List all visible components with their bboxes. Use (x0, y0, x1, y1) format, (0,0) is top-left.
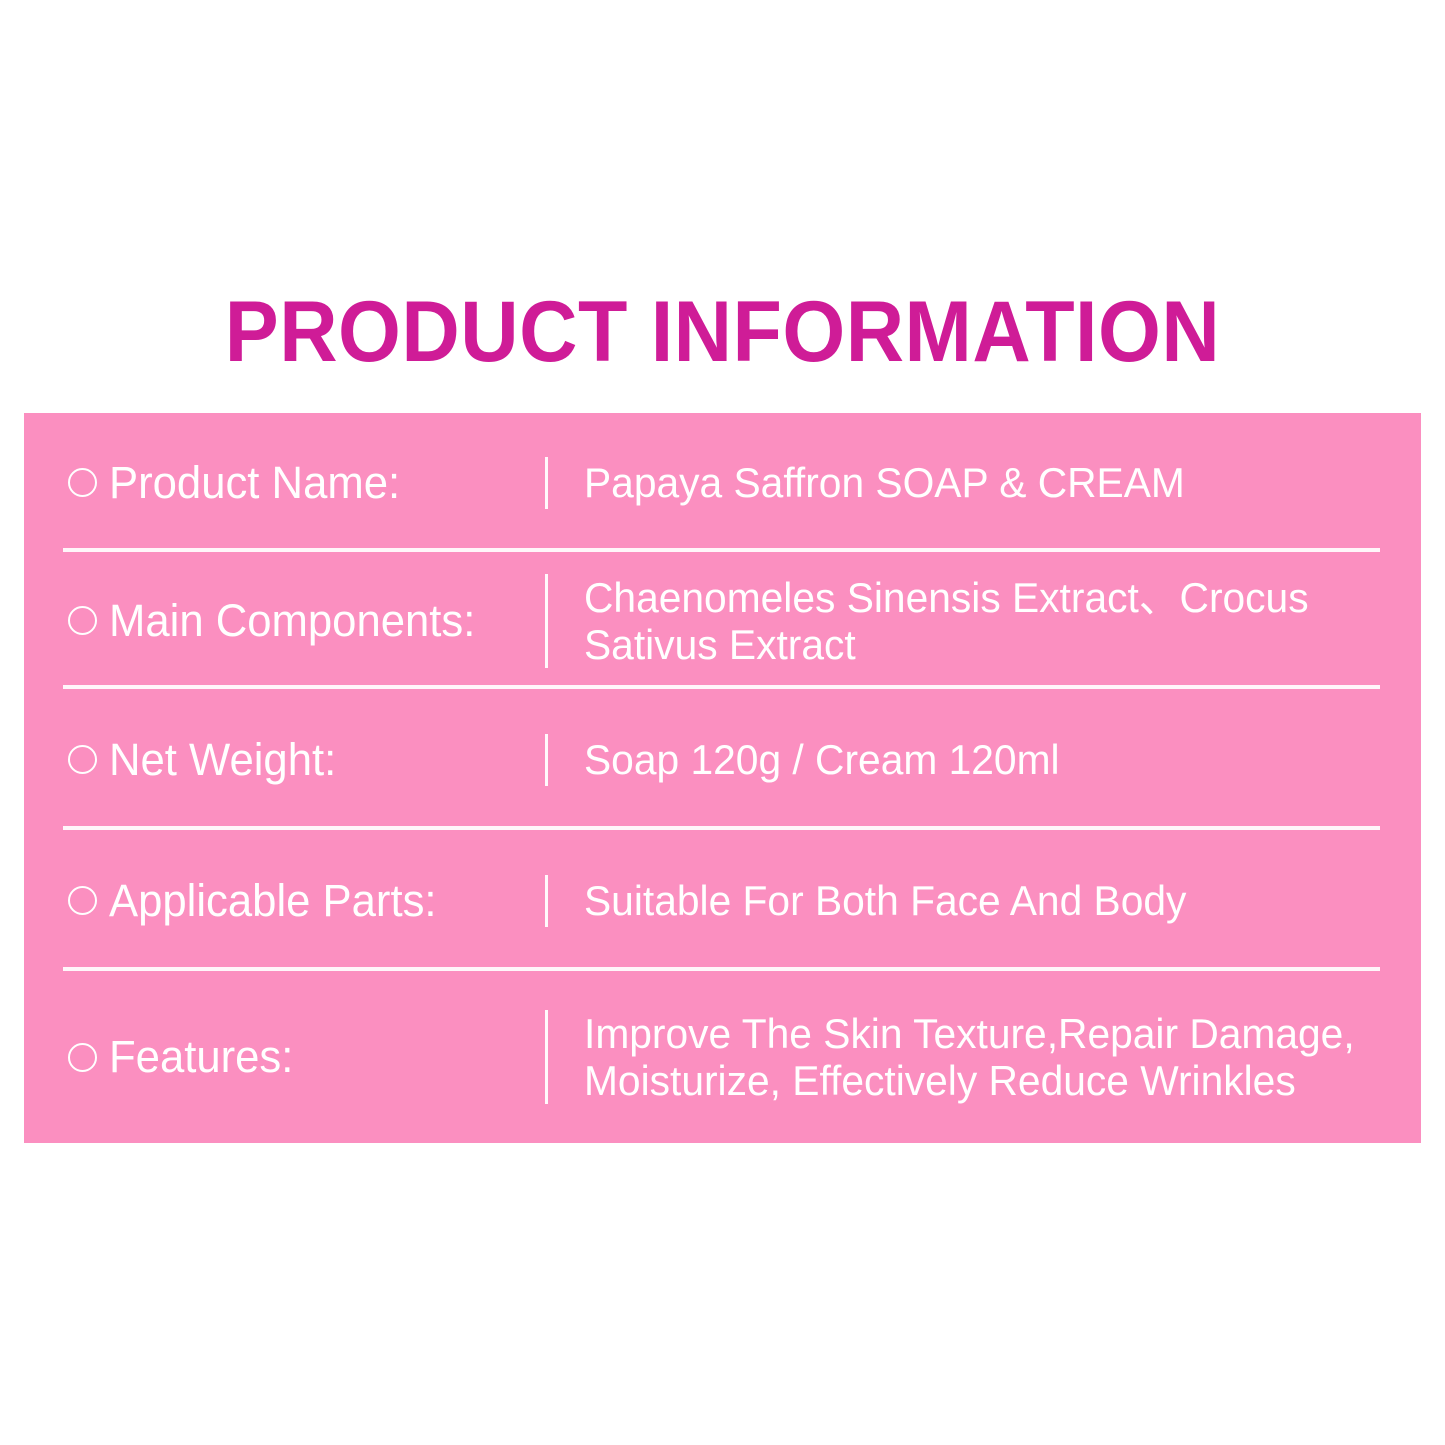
spec-value-line-2: Moisturize, Effectively Reduce Wrinkles (584, 1057, 1357, 1104)
circle-outline-icon (68, 1043, 97, 1072)
spec-row-main-components: Main Components: Chaenomeles Sinensis Ex… (24, 552, 1421, 689)
spec-label-cell: Main Components: (68, 596, 545, 646)
product-information-page: PRODUCT INFORMATION Product Name: Papaya… (0, 0, 1445, 1445)
spec-value: Chaenomeles Sinensis Extract、Crocus Sati… (584, 574, 1357, 668)
product-spec-list: Product Name: Papaya Saffron SOAP & CREA… (24, 413, 1421, 1143)
circle-outline-icon (68, 468, 97, 497)
vertical-divider-icon (545, 574, 548, 668)
spec-label: Main Components: (109, 596, 475, 646)
spec-value-line-1: Papaya Saffron SOAP & CREAM (584, 459, 1185, 506)
spec-row-net-weight: Net Weight: Soap 120g / Cream 120ml (24, 689, 1421, 830)
spec-value: Improve The Skin Texture,Repair Damage, … (584, 1010, 1357, 1104)
spec-value-cell: Papaya Saffron SOAP & CREAM (548, 459, 1381, 506)
spec-row-product-name: Product Name: Papaya Saffron SOAP & CREA… (24, 413, 1421, 552)
spec-value-line-2: Sativus Extract (584, 621, 1357, 668)
spec-value-line-1: Suitable For Both Face And Body (584, 877, 1186, 924)
spec-label-cell: Applicable Parts: (68, 876, 545, 926)
spec-value-cell: Soap 120g / Cream 120ml (548, 736, 1381, 783)
spec-label: Net Weight: (109, 735, 336, 785)
circle-outline-icon (68, 886, 97, 915)
page-title: PRODUCT INFORMATION (43, 284, 1401, 380)
spec-row-applicable-parts: Applicable Parts: Suitable For Both Face… (24, 830, 1421, 971)
spec-label-cell: Features: (68, 1032, 545, 1082)
product-information-panel: Product Name: Papaya Saffron SOAP & CREA… (24, 413, 1421, 1143)
spec-label: Features: (109, 1032, 293, 1082)
vertical-divider-icon (545, 1010, 548, 1104)
vertical-divider-icon (545, 734, 548, 786)
circle-outline-icon (68, 606, 97, 635)
spec-label-cell: Product Name: (68, 458, 545, 508)
spec-label: Applicable Parts: (109, 876, 437, 926)
spec-value-line-1: Chaenomeles Sinensis Extract、Crocus (584, 574, 1309, 621)
spec-label-cell: Net Weight: (68, 735, 545, 785)
spec-value: Papaya Saffron SOAP & CREAM (584, 459, 1357, 506)
spec-value-line-1: Soap 120g / Cream 120ml (584, 736, 1060, 783)
spec-value-cell: Chaenomeles Sinensis Extract、Crocus Sati… (548, 574, 1381, 668)
circle-outline-icon (68, 745, 97, 774)
spec-value: Suitable For Both Face And Body (584, 877, 1357, 924)
spec-value: Soap 120g / Cream 120ml (584, 736, 1357, 783)
spec-label: Product Name: (109, 458, 400, 508)
vertical-divider-icon (545, 457, 548, 509)
spec-value-line-1: Improve The Skin Texture,Repair Damage, (584, 1010, 1355, 1057)
spec-row-features: Features: Improve The Skin Texture,Repai… (24, 971, 1421, 1143)
spec-value-cell: Suitable For Both Face And Body (548, 877, 1381, 924)
spec-value-cell: Improve The Skin Texture,Repair Damage, … (548, 1010, 1381, 1104)
vertical-divider-icon (545, 875, 548, 927)
